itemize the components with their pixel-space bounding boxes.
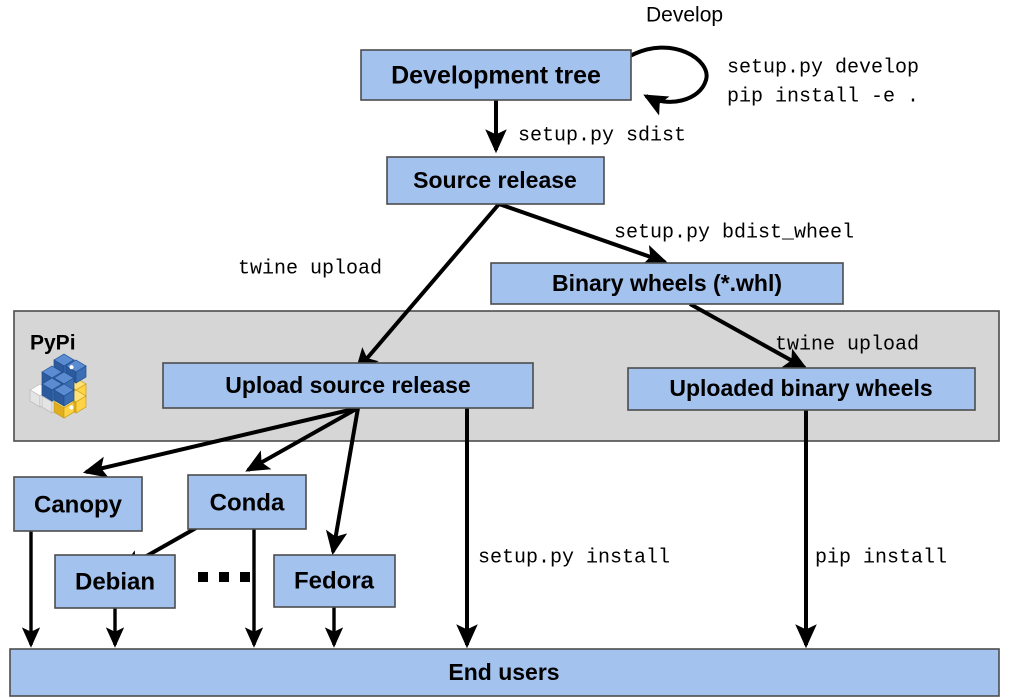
dots-separator-icon xyxy=(198,572,250,582)
node-label-development-tree: Development tree xyxy=(391,62,601,90)
edge-label-develop: Develop xyxy=(646,4,723,27)
node-label-upload-source-release: Upload source release xyxy=(225,372,470,398)
node-label-uploaded-binary-wheels: Uploaded binary wheels xyxy=(669,375,932,401)
node-end-users[interactable]: End users xyxy=(10,649,999,696)
node-label-conda: Conda xyxy=(210,489,285,516)
node-source-release[interactable]: Source release xyxy=(387,157,604,204)
pypi-group-label: PyPi xyxy=(30,332,76,355)
edge-label-pip-install: pip install xyxy=(815,546,947,569)
node-development-tree[interactable]: Development tree xyxy=(361,50,631,100)
node-label-end-users: End users xyxy=(448,659,559,685)
node-debian[interactable]: Debian xyxy=(55,555,175,608)
node-upload-source-release[interactable]: Upload source release xyxy=(163,363,533,408)
node-label-fedora: Fedora xyxy=(294,567,375,594)
edge-label-pip-install-e: pip install -e . xyxy=(727,85,919,108)
packaging-flow-diagram: PyPi xyxy=(0,0,1009,698)
node-uploaded-binary-wheels[interactable]: Uploaded binary wheels xyxy=(628,368,975,410)
node-label-source-release: Source release xyxy=(413,167,577,193)
node-label-binary-wheels: Binary wheels (*.whl) xyxy=(552,270,782,296)
edge-label-setup-bdist-wheel: setup.py bdist_wheel xyxy=(614,221,854,244)
edge-label-twine-upload-source: twine upload xyxy=(238,257,382,280)
node-fedora[interactable]: Fedora xyxy=(274,555,395,607)
edge-develop-loop xyxy=(630,48,707,102)
edge-label-twine-upload-wheels: twine upload xyxy=(775,333,919,356)
node-label-canopy: Canopy xyxy=(34,491,123,518)
edge-label-setup-develop: setup.py develop xyxy=(727,56,919,79)
node-binary-wheels[interactable]: Binary wheels (*.whl) xyxy=(491,263,843,304)
node-conda[interactable]: Conda xyxy=(188,475,306,529)
edge-label-setup-install: setup.py install xyxy=(478,546,670,569)
edge-label-setup-sdist: setup.py sdist xyxy=(518,124,686,147)
diagram-canvas: PyPi xyxy=(0,0,1009,698)
node-label-debian: Debian xyxy=(75,568,155,595)
node-canopy[interactable]: Canopy xyxy=(14,477,142,531)
